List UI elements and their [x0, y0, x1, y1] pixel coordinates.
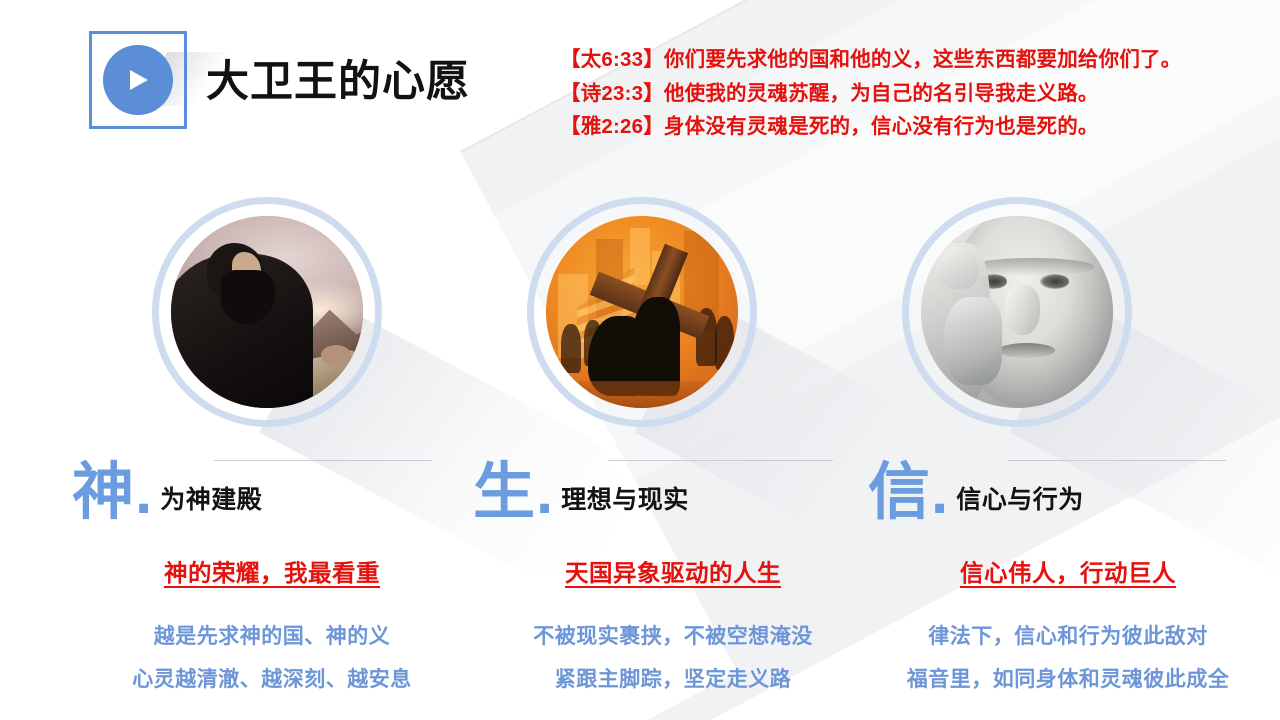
column-blue-line: 不被现实裹挟，不被空想淹没 [473, 620, 873, 650]
page-title: 大卫王的心愿 [206, 47, 470, 109]
column-divider [1008, 460, 1226, 461]
image-circle-1 [152, 197, 382, 427]
column-divider [214, 460, 432, 461]
big-character: 信 [868, 464, 930, 521]
verse-line: 【诗23:3】他使我的灵魂苏醒，为自己的名引导我走义路。 [560, 77, 1260, 111]
column-red-heading: 天国异象驱动的人生 [473, 554, 873, 588]
big-character-dot: . [135, 464, 152, 521]
column-blue-line: 律法下，信心和行为彼此敌对 [868, 620, 1268, 650]
circle-ring-1 [152, 197, 382, 427]
column-blue-line: 越是先求神的国、神的义 [72, 620, 472, 650]
column-divider [608, 460, 833, 461]
image-circle-3 [902, 197, 1132, 427]
big-character: 神 [72, 464, 134, 521]
circle-ring-3 [902, 197, 1132, 427]
column-subtitle: 为神建殿 [160, 480, 262, 521]
big-character-dot: . [931, 464, 948, 521]
image-circle-2 [527, 197, 757, 427]
scripture-verses: 【太6:33】你们要先求他的国和他的义，这些东西都要加给你们了。 【诗23:3】… [560, 43, 1260, 144]
column-blue-line: 心灵越清澈、越深刻、越安息 [72, 663, 472, 693]
play-button-icon[interactable] [103, 45, 173, 115]
column-subtitle: 信心与行为 [956, 480, 1084, 521]
circle-ring-2 [527, 197, 757, 427]
big-character: 生 [473, 464, 535, 521]
column-heading-3: 信 . 信心与行为 [868, 464, 1084, 521]
big-character-dot: . [536, 464, 553, 521]
slide-canvas: 大卫王的心愿 【太6:33】你们要先求他的国和他的义，这些东西都要加给你们了。 … [0, 0, 1280, 720]
column-subtitle: 理想与现实 [561, 480, 689, 521]
column-heading-1: 神 . 为神建殿 [72, 464, 262, 521]
column-red-heading: 神的荣耀，我最看重 [72, 554, 472, 588]
column-red-heading: 信心伟人，行动巨人 [868, 554, 1268, 588]
column-blue-line: 福音里，如同身体和灵魂彼此成全 [868, 663, 1268, 693]
verse-line: 【太6:33】你们要先求他的国和他的义，这些东西都要加给你们了。 [560, 43, 1260, 77]
column-heading-2: 生 . 理想与现实 [473, 464, 689, 521]
verse-line: 【雅2:26】身体没有灵魂是死的，信心没有行为也是死的。 [560, 110, 1260, 144]
column-blue-line: 紧跟主脚踪，坚定走义路 [473, 663, 873, 693]
